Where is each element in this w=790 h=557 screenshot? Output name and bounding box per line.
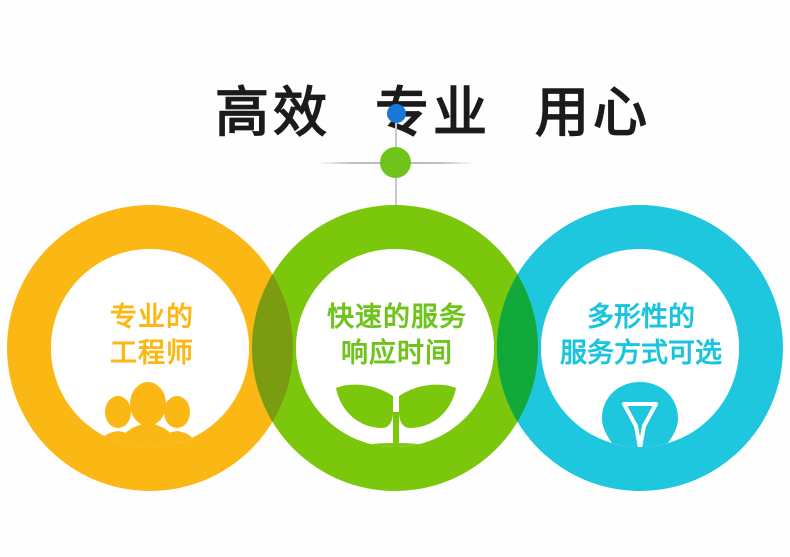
poster-canvas: 高效专业用心 bbox=[0, 0, 790, 557]
venn-diagram bbox=[0, 0, 790, 557]
